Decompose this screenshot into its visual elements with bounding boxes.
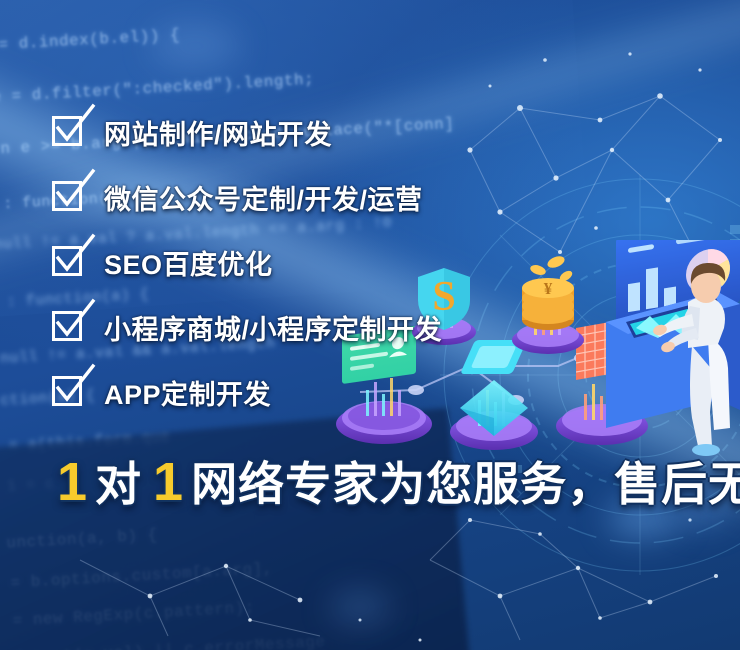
checkbox-checked-icon[interactable]	[52, 116, 86, 150]
code-line: = new RegExp(c.pattern);	[12, 599, 255, 631]
bokeh-blob	[150, 22, 240, 70]
feature-label: 网站制作/网站开发	[104, 113, 332, 152]
headline-number-second: 1	[146, 451, 191, 513]
code-line: = d.index(b.el)) {	[0, 26, 181, 54]
keyboard-slab	[0, 408, 470, 650]
checkbox-checked-icon[interactable]	[52, 246, 86, 280]
feature-list: 网站制作/网站开发 微信公众号定制/开发/运营 SEO百度优化	[52, 100, 692, 425]
feature-label: SEO百度优化	[104, 243, 273, 282]
feature-item[interactable]: SEO百度优化	[52, 230, 692, 295]
code-line: d.test(a.val) || c.errorMessage	[12, 633, 326, 650]
feature-label: 小程序商城/小程序定制开发	[104, 308, 442, 347]
promo-banner: .toggleAll("input[type=checkbox" = d.ind…	[0, 0, 740, 650]
feature-item[interactable]: APP定制开发	[52, 360, 692, 425]
checkbox-checked-icon[interactable]	[52, 311, 86, 345]
code-line: 1 = c	[7, 476, 55, 496]
feature-label: 微信公众号定制/开发/运营	[104, 178, 423, 217]
headline: 1 对 1 网络专家为您服务，售后无忧！	[50, 448, 740, 514]
headline-word-middle: 对	[95, 448, 146, 514]
code-line: = b.options.custom[a.arg],	[10, 560, 273, 593]
feature-item[interactable]: 小程序商城/小程序定制开发	[52, 295, 692, 360]
checkbox-checked-icon[interactable]	[52, 181, 86, 215]
feature-item[interactable]: 微信公众号定制/开发/运营	[52, 165, 692, 230]
code-line: unction(a, b) {	[6, 526, 158, 552]
bokeh-blob	[330, 590, 390, 624]
feature-label: APP定制开发	[104, 373, 271, 412]
checkbox-checked-icon[interactable]	[52, 376, 86, 410]
headline-number-first: 1	[50, 451, 95, 513]
feature-item[interactable]: 网站制作/网站开发	[52, 100, 692, 165]
headline-tail: 网络专家为您服务，售后无忧！	[191, 448, 740, 514]
